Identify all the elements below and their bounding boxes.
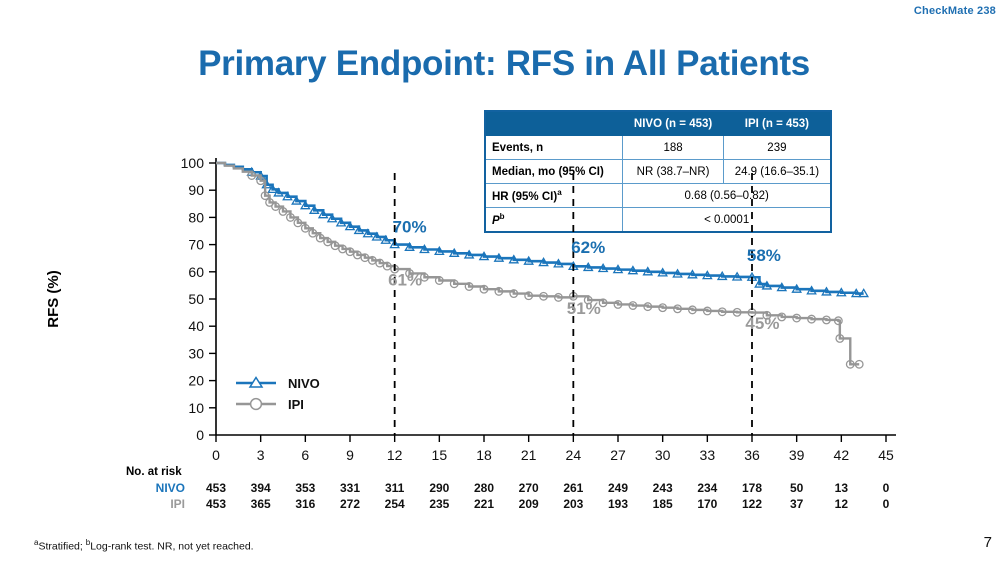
risk-value: 290 xyxy=(419,481,459,495)
y-axis-tick-label: 20 xyxy=(188,373,204,389)
risk-value: 234 xyxy=(687,481,727,495)
y-axis-tick-label: 60 xyxy=(188,264,204,280)
x-axis-tick-label: 18 xyxy=(476,447,492,463)
slide-root: CheckMate 238 Primary Endpoint: RFS in A… xyxy=(0,0,1008,563)
y-axis-tick-label: 90 xyxy=(188,182,204,198)
risk-row-nivo: NIVO453394353331311290280270261249243234… xyxy=(0,481,1008,497)
number-at-risk-table: No. at risk NIVO453394353331311290280270… xyxy=(0,466,1008,528)
legend-label-nivo: NIVO xyxy=(288,376,320,391)
y-axis-tick-label: 50 xyxy=(188,291,204,307)
annotation-nivo-62pct: 62% xyxy=(571,238,605,257)
page-title: Primary Endpoint: RFS in All Patients xyxy=(0,44,1008,84)
risk-row-label: NIVO xyxy=(125,481,185,495)
risk-value: 203 xyxy=(553,497,593,511)
risk-value: 270 xyxy=(509,481,549,495)
risk-value: 280 xyxy=(464,481,504,495)
study-brand-label: CheckMate 238 xyxy=(914,5,996,17)
x-axis-tick-label: 24 xyxy=(566,447,582,463)
risk-value: 13 xyxy=(821,481,861,495)
legend-marker-circle xyxy=(251,399,262,410)
x-axis-tick-label: 36 xyxy=(744,447,760,463)
risk-value: 331 xyxy=(330,481,370,495)
kaplan-meier-chart: 0102030405060708090100036912151821242730… xyxy=(0,95,1008,465)
y-axis-tick-label: 0 xyxy=(196,427,204,443)
risk-value: 249 xyxy=(598,481,638,495)
risk-value: 193 xyxy=(598,497,638,511)
risk-value: 170 xyxy=(687,497,727,511)
risk-value: 235 xyxy=(419,497,459,511)
y-axis-tick-label: 10 xyxy=(188,400,204,416)
risk-value: 243 xyxy=(643,481,683,495)
annotation-ipi-51pct: 51% xyxy=(567,299,601,318)
x-axis-tick-label: 45 xyxy=(878,447,894,463)
risk-value: 37 xyxy=(777,497,817,511)
x-axis-tick-label: 12 xyxy=(387,447,403,463)
risk-value: 122 xyxy=(732,497,772,511)
y-axis-tick-label: 100 xyxy=(181,155,205,171)
x-axis-tick-label: 6 xyxy=(301,447,309,463)
annotation-ipi-61pct: 61% xyxy=(388,270,422,289)
footnote-text-a: Stratified; xyxy=(38,541,85,553)
x-axis-tick-label: 0 xyxy=(212,447,220,463)
risk-value: 272 xyxy=(330,497,370,511)
y-axis-tick-label: 80 xyxy=(188,209,204,225)
annotation-ipi-45pct: 45% xyxy=(745,314,779,333)
x-axis-tick-label: 27 xyxy=(610,447,626,463)
risk-value: 261 xyxy=(553,481,593,495)
y-axis-tick-label: 70 xyxy=(188,237,204,253)
annotation-nivo-58pct: 58% xyxy=(747,246,781,265)
risk-value: 12 xyxy=(821,497,861,511)
x-axis-tick-label: 42 xyxy=(834,447,850,463)
x-axis-tick-label: 33 xyxy=(700,447,716,463)
risk-value: 311 xyxy=(375,481,415,495)
risk-value: 394 xyxy=(241,481,281,495)
risk-value: 178 xyxy=(732,481,772,495)
x-axis-tick-label: 9 xyxy=(346,447,354,463)
risk-value: 209 xyxy=(509,497,549,511)
risk-value: 50 xyxy=(777,481,817,495)
risk-value: 221 xyxy=(464,497,504,511)
risk-row-label: IPI xyxy=(125,497,185,511)
footnote-text-b: Log-rank test. NR, not yet reached. xyxy=(90,541,253,553)
x-axis-tick-label: 21 xyxy=(521,447,537,463)
y-axis-tick-label: 40 xyxy=(188,318,204,334)
chart-legend: NIVOIPI xyxy=(236,376,320,412)
y-axis-tick-label: 30 xyxy=(188,345,204,361)
x-axis-tick-label: 3 xyxy=(257,447,265,463)
risk-value: 316 xyxy=(285,497,325,511)
x-axis-tick-label: 39 xyxy=(789,447,805,463)
risk-value: 353 xyxy=(285,481,325,495)
page-number: 7 xyxy=(984,534,992,551)
legend-label-ipi: IPI xyxy=(288,397,304,412)
chart-curves xyxy=(216,163,868,368)
x-axis-tick-label: 30 xyxy=(655,447,671,463)
risk-table-title: No. at risk xyxy=(126,466,182,478)
annotation-nivo-70pct: 70% xyxy=(393,217,427,236)
risk-row-ipi: IPI4533653162722542352212092031931851701… xyxy=(0,497,1008,513)
x-axis-tick-label: 15 xyxy=(432,447,448,463)
chart-axes: 0102030405060708090100036912151821242730… xyxy=(45,155,896,465)
risk-value: 365 xyxy=(241,497,281,511)
y-axis-title: RFS (%) xyxy=(45,270,62,328)
risk-value: 185 xyxy=(643,497,683,511)
footnote: aStratified; bLog-rank test. NR, not yet… xyxy=(34,538,254,553)
risk-value: 453 xyxy=(196,481,236,495)
risk-value: 0 xyxy=(866,497,906,511)
risk-value: 453 xyxy=(196,497,236,511)
risk-value: 254 xyxy=(375,497,415,511)
risk-value: 0 xyxy=(866,481,906,495)
